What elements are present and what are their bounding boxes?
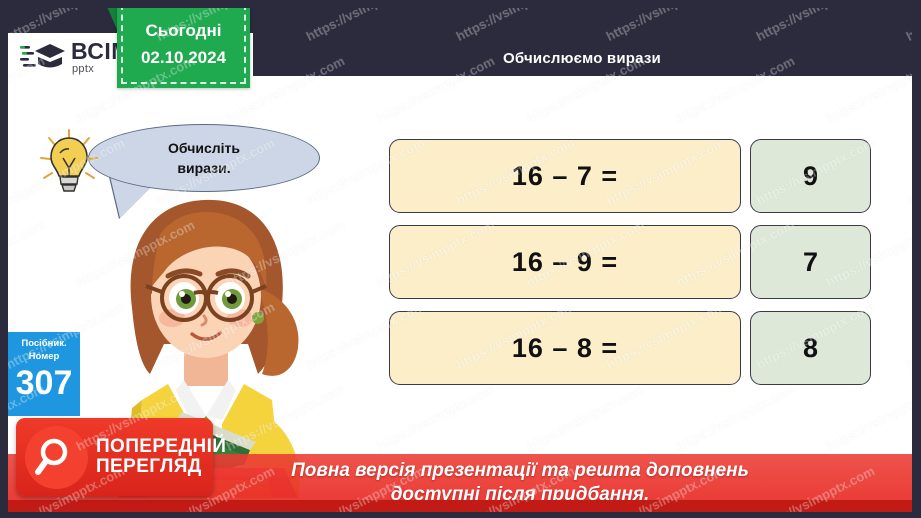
answer-box[interactable]: 9: [750, 139, 871, 213]
frame-border-right: [912, 0, 921, 518]
exercise-row: 16 – 9 = 7: [389, 225, 871, 299]
page-title: Обчислюємо вирази: [503, 50, 661, 67]
preview-label-line2: ПЕРЕГЛЯД: [96, 457, 226, 477]
date-tag-label: Сьогодні: [146, 21, 222, 41]
expression-box[interactable]: 16 – 9 =: [389, 225, 741, 299]
title-bar: Обчислюємо вирази: [252, 40, 912, 76]
expression-text: 16 – 9 =: [512, 247, 618, 278]
hint-line-1: Обчисліть: [168, 138, 240, 158]
answer-box[interactable]: 8: [750, 311, 871, 385]
expression-box[interactable]: 16 – 8 =: [389, 311, 741, 385]
preview-label-line1: ПОПЕРЕДНІЙ: [96, 437, 226, 457]
answer-text: 9: [803, 161, 818, 192]
purchase-notice-line1: Повна версія презентації та решта доповн…: [291, 459, 749, 483]
exercise-row: 16 – 7 = 9: [389, 139, 871, 213]
manual-label-line1: Посібник.: [21, 338, 66, 351]
manual-label-line2: Номер: [29, 351, 60, 364]
frame-border-bottom: [0, 512, 921, 518]
graduation-cap-icon: [20, 40, 66, 74]
date-tag-value: 02.10.2024: [141, 48, 226, 68]
frame-border-left: [0, 0, 8, 518]
frame-border-top: [0, 0, 921, 8]
manual-number-badge: Посібник. Номер 307: [8, 332, 80, 416]
answer-text: 8: [803, 333, 818, 364]
exercise-row: 16 – 8 = 8: [389, 311, 871, 385]
expression-text: 16 – 7 =: [512, 161, 618, 192]
preview-badge[interactable]: ПОПЕРЕДНІЙ ПЕРЕГЛЯД: [16, 418, 213, 496]
expression-box[interactable]: 16 – 7 =: [389, 139, 741, 213]
answer-text: 7: [803, 247, 818, 278]
manual-number: 307: [16, 366, 73, 400]
magnifier-icon: [25, 426, 88, 489]
banner-bottom-strip: [8, 500, 912, 512]
slide-root: ВСІМ pptx Обчислюємо вирази Сьогодні 02.…: [0, 0, 921, 518]
exercise-rows: 16 – 7 = 9 16 – 9 = 7 16 – 8 = 8: [389, 139, 871, 397]
expression-text: 16 – 8 =: [512, 333, 618, 364]
answer-box[interactable]: 7: [750, 225, 871, 299]
date-tag: Сьогодні 02.10.2024: [117, 0, 250, 88]
